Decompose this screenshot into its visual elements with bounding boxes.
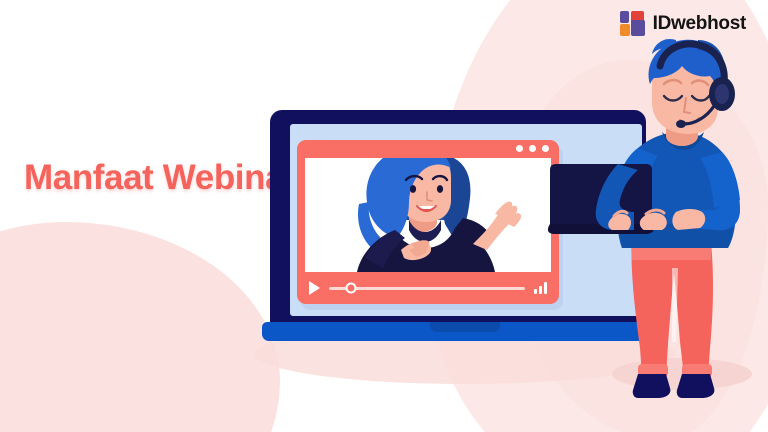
seek-bar[interactable] — [329, 287, 525, 290]
window-dots-icon — [516, 145, 549, 152]
seek-handle[interactable] — [345, 283, 356, 294]
play-icon[interactable] — [309, 281, 320, 295]
idwebhost-squares-logo-icon — [620, 11, 646, 37]
volume-bars-icon[interactable] — [534, 282, 547, 294]
brand-logo-text: IDwebhost — [653, 13, 746, 35]
video-player-controls[interactable] — [297, 272, 559, 304]
man-with-headset-illustration — [580, 52, 768, 422]
video-player-titlebar — [297, 140, 559, 158]
page-title: Manfaat Webinar — [24, 158, 297, 198]
woman-presenter-illustration — [305, 158, 551, 272]
poster-canvas: IDwebhost Manfaat Webinar — [0, 0, 768, 432]
brand-logo[interactable]: IDwebhost — [620, 11, 746, 37]
video-player-window[interactable] — [297, 140, 559, 304]
video-canvas — [305, 158, 551, 272]
pink-blob-left-icon — [0, 222, 280, 432]
laptop-base-notch — [430, 322, 500, 332]
